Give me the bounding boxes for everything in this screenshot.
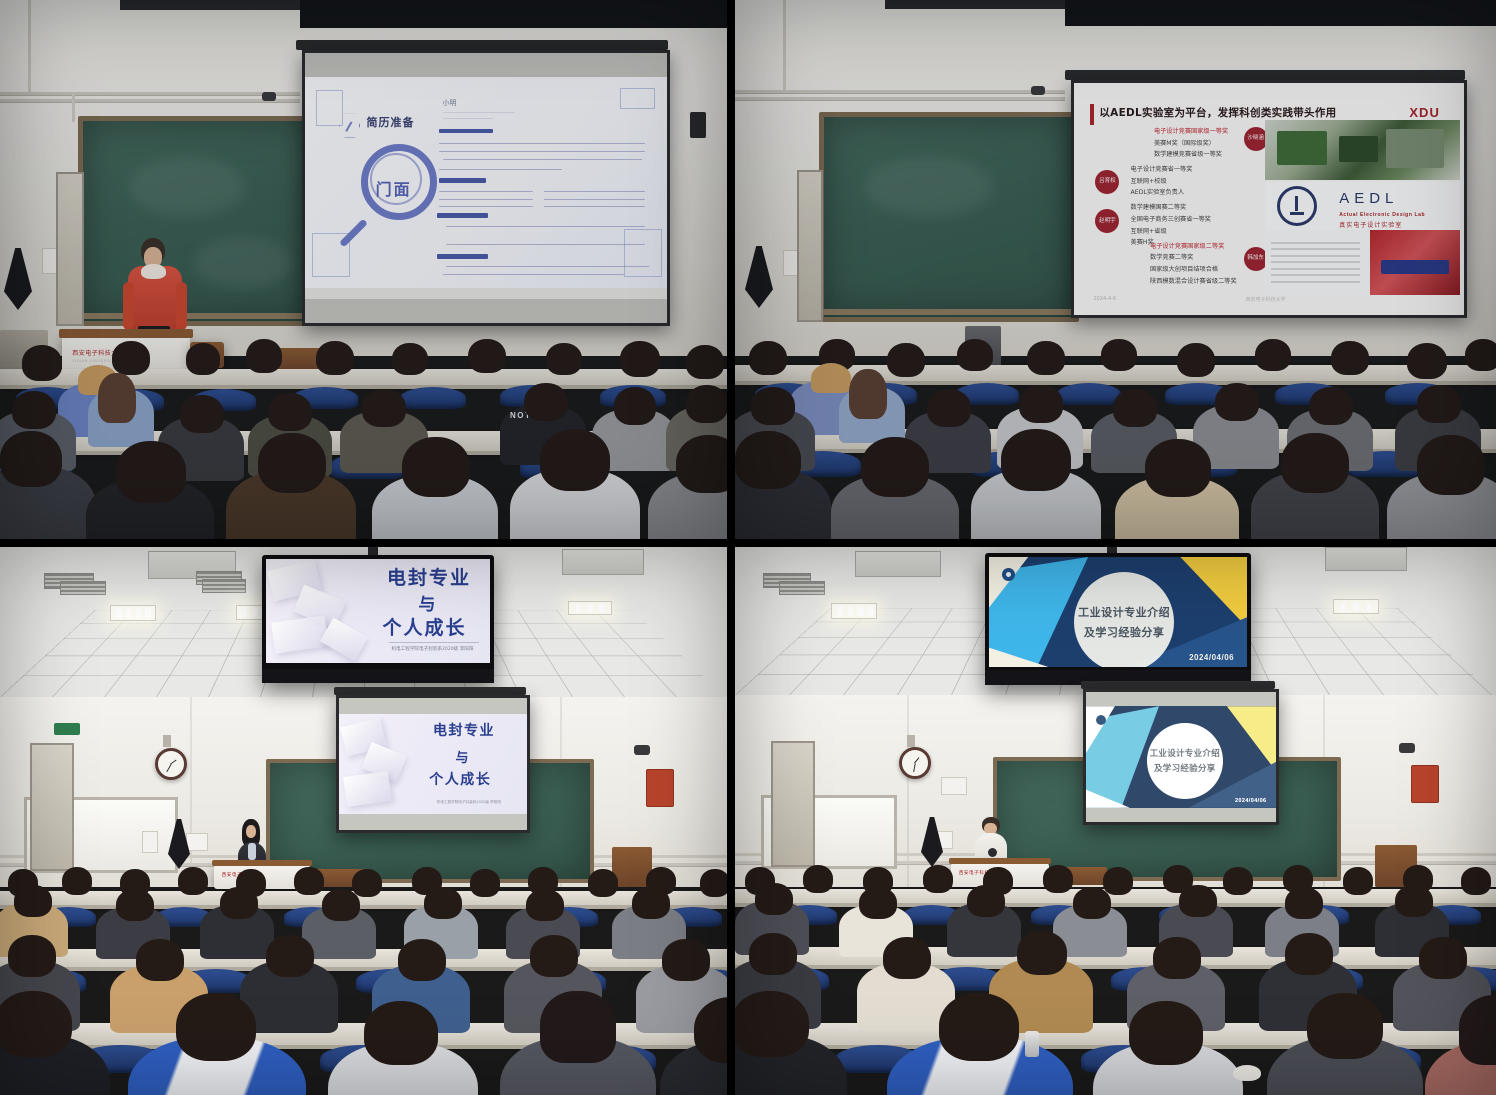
clock-minute-hand xyxy=(166,764,171,772)
resume-row xyxy=(439,206,533,207)
tv-title-line-3: 个人成长 xyxy=(382,613,466,640)
audience-head xyxy=(588,869,618,897)
ac-diffuser xyxy=(1325,547,1407,571)
audience-head xyxy=(632,887,670,919)
photo-collage: 简历准备 门面 小明 xyxy=(0,0,1496,1095)
aedl-chinese: 真实电子设计实验室 xyxy=(1339,220,1402,229)
podium-top-edge xyxy=(949,858,1051,864)
chalk-tray xyxy=(815,309,1073,315)
person-badge-4: 韩加东 xyxy=(1244,247,1268,271)
title-circle: 工业设计专业介绍 及学习经验分享 xyxy=(1074,572,1174,667)
ceiling-soffit xyxy=(1065,0,1496,26)
audience-head-front xyxy=(1281,433,1349,493)
fire-equipment-box xyxy=(1411,765,1439,803)
person-item: 陕西模数混合设计赛省级二等奖 xyxy=(1150,276,1237,285)
exit-sign xyxy=(54,723,80,735)
wall-conduit-2 xyxy=(0,99,300,102)
audience-head xyxy=(887,343,925,377)
audience-head-front xyxy=(116,441,186,503)
audience-head xyxy=(180,395,224,433)
ac-diffuser xyxy=(562,549,644,575)
chalk-tray xyxy=(74,313,316,319)
audience-head-cap xyxy=(811,363,851,393)
speaker-face xyxy=(246,825,256,838)
resume-name: 小明 xyxy=(443,98,457,108)
person-item: 互联网+省级 xyxy=(1131,226,1167,235)
person-item: AEDL实验室负责人 xyxy=(1131,187,1184,196)
resume-section-tag-3 xyxy=(437,213,488,218)
resume-row xyxy=(443,159,642,160)
resume-section-tag-2 xyxy=(439,178,486,183)
side-door xyxy=(56,172,84,326)
projection-screen: 工业设计专业介绍 及学习经验分享 2024/04/06 xyxy=(1083,689,1279,825)
tv-title-line-2: 及学习经验分享 xyxy=(1084,624,1165,640)
classroom-scene-d: 工业设计专业介绍 及学习经验分享 2024/04/06 xyxy=(735,547,1496,1095)
tv-bezel-chin xyxy=(262,669,494,683)
audience-head-front xyxy=(0,431,62,487)
aedl-english: Actual Electronic Design Lab xyxy=(1339,212,1425,218)
slide-footer-org: 西安电子科技大学 xyxy=(1246,296,1286,303)
audience-head xyxy=(1073,887,1111,919)
title-circle: 工业设计专业介绍 及学习经验分享 xyxy=(1147,723,1223,799)
person-item: 美赛M奖（国际级奖） xyxy=(1154,138,1215,147)
speaker-arm-right xyxy=(176,282,187,330)
desk-edge xyxy=(0,967,727,971)
desk-edge xyxy=(0,905,727,909)
resume-section-tag-1 xyxy=(439,129,493,134)
lecture-hall-scene-b: 以AEDL实验室为平台，发挥科创类实践带头作用 XDU 沙晓涵 电子设计竞赛国家… xyxy=(735,0,1496,539)
projected-title-line-1: 电封专业 xyxy=(433,720,495,740)
wall-seam xyxy=(190,697,192,887)
person-item: 电子设计竞赛国家级二等奖 xyxy=(1150,241,1224,250)
person-item: 互联网+校级 xyxy=(1131,176,1167,185)
slide-footer-date: 2024-4-6 xyxy=(1094,296,1117,302)
audience-head-long-hair xyxy=(849,369,887,419)
projection-screen: 电封专业 与 个人成长 机电工程学院电子封装系2020级 李阳阳 xyxy=(336,695,530,833)
audience-head xyxy=(322,889,360,921)
resume-row xyxy=(446,266,649,267)
blueprint-corner-br xyxy=(624,229,662,277)
audience-head-long-hair xyxy=(98,373,136,423)
audience: jacket text visible: NOT A NOT A xyxy=(0,359,727,539)
audience-head xyxy=(1407,343,1447,379)
projected-subtitle: 机电工程学院电子封装系2020级 李阳阳 xyxy=(437,800,501,805)
resume-row xyxy=(446,244,645,245)
audience-head-front xyxy=(258,433,326,493)
brand-logo: XDU xyxy=(1409,105,1439,120)
table-line xyxy=(1271,242,1360,244)
person-item: 电子设计竞赛省一等奖 xyxy=(1131,164,1193,173)
wall-notice xyxy=(941,777,967,795)
fire-equipment-box xyxy=(646,769,674,807)
projected-title-line-2: 及学习经验分享 xyxy=(1154,762,1216,774)
seat xyxy=(400,387,466,409)
wall-conduit-vertical xyxy=(783,0,786,90)
audience-head xyxy=(530,935,578,977)
screen-band-top xyxy=(339,698,527,714)
audience-head xyxy=(316,341,354,375)
wall-clock-face xyxy=(155,748,187,780)
person-item: 数学竞赛二等奖 xyxy=(1150,252,1193,261)
audience-head xyxy=(1223,867,1253,895)
table-line xyxy=(1271,248,1360,250)
audience-head xyxy=(266,935,314,977)
audience-head xyxy=(1101,339,1137,371)
audience-head xyxy=(662,939,710,981)
resume-meta-line xyxy=(443,112,515,113)
audience-head-front xyxy=(1001,429,1071,491)
screen-case xyxy=(296,40,668,50)
ceiling-camera xyxy=(1399,743,1415,753)
desk-edge xyxy=(735,965,1496,969)
audience-head xyxy=(398,939,446,981)
projected-slide-date: 2024/04/06 xyxy=(1235,798,1267,804)
slide-geometric-tv: 工业设计专业介绍 及学习经验分享 2024/04/06 xyxy=(989,557,1247,667)
audience-head xyxy=(1461,867,1491,895)
audience-head xyxy=(1179,885,1217,917)
side-door xyxy=(797,170,823,322)
audience-head-front xyxy=(735,991,809,1057)
table-line xyxy=(1271,255,1360,257)
audience-head xyxy=(8,935,56,977)
audience-head xyxy=(526,889,564,921)
table-line xyxy=(1271,274,1360,276)
audience-head xyxy=(1017,931,1067,975)
audience-head xyxy=(246,339,282,373)
screen-band-top xyxy=(1086,692,1276,706)
ceiling-light-panel xyxy=(110,605,156,621)
audience xyxy=(735,883,1496,1095)
audience-head xyxy=(923,865,953,893)
audience-head xyxy=(116,889,154,921)
tv-title-line-2: 与 xyxy=(418,590,435,615)
photo-pcb-hardware xyxy=(1265,120,1460,180)
audience-head-front xyxy=(1307,993,1383,1059)
audience-head xyxy=(1177,343,1215,377)
resume-meta-line-2 xyxy=(443,118,494,119)
resume-row xyxy=(439,199,533,200)
audience-head xyxy=(614,387,656,425)
audience-head-front-ponytail xyxy=(540,991,616,1063)
projection-screen: 简历准备 门面 小明 xyxy=(302,50,670,326)
panel-bottom-left: 电封专业 与 个人成长 机电工程学院电子封装系2020级 李阳阳 xyxy=(0,547,727,1095)
audience-head xyxy=(620,341,660,377)
audience-head xyxy=(1285,933,1333,975)
audience-head-front xyxy=(1417,435,1485,495)
ceiling-light-panel xyxy=(568,601,612,615)
audience-head xyxy=(967,885,1005,917)
audience-head xyxy=(803,865,833,893)
slide-paper-fold-projected: 电封专业 与 个人成长 机电工程学院电子封装系2020级 李阳阳 xyxy=(339,714,527,814)
panel-bottom-right: 工业设计专业介绍 及学习经验分享 2024/04/06 xyxy=(735,547,1496,1095)
tv-screen: 工业设计专业介绍 及学习经验分享 2024/04/06 xyxy=(989,557,1247,667)
audience-head xyxy=(14,885,52,917)
paper-fold-shape xyxy=(343,771,392,807)
resume-row xyxy=(443,274,624,275)
audience xyxy=(735,359,1496,539)
screen-roller-case xyxy=(334,687,526,695)
ceiling-light-panel xyxy=(831,603,877,619)
audience-head xyxy=(751,387,795,425)
audience-head-front xyxy=(861,437,929,497)
ceiling-vent xyxy=(779,581,825,595)
resume-row xyxy=(439,151,645,152)
person-item: 数学建模竞赛省级一等奖 xyxy=(1154,149,1222,158)
speaker-arm-left xyxy=(123,282,134,330)
person-badge-2: 吕育权 xyxy=(1095,170,1119,194)
audience-head xyxy=(1285,887,1323,919)
audience-head xyxy=(186,343,220,375)
audience-head xyxy=(749,341,787,375)
audience-head xyxy=(1331,341,1369,375)
person-item: 全国电子商务三创赛省一等奖 xyxy=(1131,214,1211,223)
chalk-smudge xyxy=(864,157,994,217)
chalk-smudge xyxy=(129,157,245,217)
wall-tv-display: 工业设计专业介绍 及学习经验分享 2024/04/06 xyxy=(985,553,1251,685)
wall-speaker xyxy=(690,112,706,138)
slide-resume-preparation: 简历准备 门面 小明 xyxy=(305,77,667,288)
audience-head xyxy=(755,883,793,915)
ceiling-camera xyxy=(1031,86,1045,95)
audience-head xyxy=(546,343,582,375)
ceiling-soffit xyxy=(300,0,727,28)
lecture-hall-scene-a: 简历准备 门面 小明 xyxy=(0,0,727,539)
resume-row xyxy=(439,169,562,170)
resume-row xyxy=(439,191,533,192)
projected-title-line-1: 工业设计专业介绍 xyxy=(1150,747,1220,759)
photo-team-group xyxy=(1370,230,1460,295)
ceiling-camera xyxy=(262,92,276,101)
screen-band-bottom xyxy=(305,299,667,323)
projected-title-line-2: 与 xyxy=(456,747,469,766)
title-accent-bar xyxy=(1090,104,1094,125)
clock-mount xyxy=(907,735,915,747)
person-item: 数学建模国赛二等奖 xyxy=(1131,202,1187,211)
resume-section-tag-4 xyxy=(437,254,488,259)
slide-geometric-projected: 工业设计专业介绍 及学习经验分享 2024/04/06 xyxy=(1086,706,1276,807)
audience-head xyxy=(1465,339,1496,371)
resume-row xyxy=(544,206,645,207)
wall-panel xyxy=(186,833,208,851)
audience-head xyxy=(62,867,92,895)
clock-minute-hand xyxy=(913,763,915,772)
audience-head xyxy=(524,383,568,421)
speaker-hood xyxy=(141,264,166,278)
seat xyxy=(1057,383,1121,405)
ceiling-soffit-left xyxy=(885,0,1065,9)
ceiling-soffit-left xyxy=(120,0,300,10)
resume-row xyxy=(446,226,645,227)
audience-head-front xyxy=(402,437,470,497)
projection-screen: 以AEDL实验室为平台，发挥科创类实践带头作用 XDU 沙晓涵 电子设计竞赛国家… xyxy=(1071,80,1467,318)
wall-conduit-2 xyxy=(735,97,1065,100)
screen-band-bottom xyxy=(1086,808,1276,822)
audience-head xyxy=(686,385,727,423)
chalkboard xyxy=(78,116,320,326)
audience-head xyxy=(1153,937,1201,979)
water-bottle xyxy=(1025,1031,1039,1057)
wall-conduit-drop xyxy=(72,92,75,122)
circle-mark-icon xyxy=(1096,715,1106,725)
person-badge-3: 赵明宇 xyxy=(1095,209,1119,233)
audience-head xyxy=(352,869,382,897)
blueprint-corner-tl xyxy=(316,90,343,126)
person-badge-1: 沙晓涵 xyxy=(1244,127,1268,151)
audience-head xyxy=(12,391,56,429)
chalk-smudge-2 xyxy=(194,237,291,289)
audience-head xyxy=(686,345,724,379)
table-line xyxy=(1271,281,1360,283)
audience-head xyxy=(178,867,208,895)
photo-score-table xyxy=(1265,230,1366,295)
wall-conduit-vertical xyxy=(28,0,31,92)
audience-head xyxy=(1255,339,1291,371)
panel-top-right: 以AEDL实验室为平台，发挥科创类实践带头作用 XDU 沙晓涵 电子设计竞赛国家… xyxy=(735,0,1496,539)
audience-head-front xyxy=(364,1001,438,1065)
audience-head xyxy=(1019,385,1063,423)
audience-head xyxy=(468,339,506,373)
audience-head xyxy=(470,869,500,897)
audience-head xyxy=(1343,867,1373,895)
person-item: 电子设计竞赛国家级一等奖 xyxy=(1154,126,1228,135)
tv-slide-date: 2024/04/06 xyxy=(1189,653,1234,662)
audience-head-front xyxy=(0,991,72,1057)
audience-head xyxy=(749,933,797,975)
audience-head xyxy=(1419,937,1467,979)
audience-head-front xyxy=(676,435,727,493)
person-item: 国家级大创项目结项合格 xyxy=(1150,264,1218,273)
speaker-shirt xyxy=(248,843,256,860)
audience-head xyxy=(700,869,727,897)
audience-head xyxy=(112,341,150,375)
slide-headline-graphic: 门面 xyxy=(376,176,412,200)
audience-head xyxy=(957,339,993,371)
wall-seam xyxy=(907,695,909,887)
photo-aedl-logo-block: AEDL Actual Electronic Design Lab 真实电子设计… xyxy=(1265,182,1460,231)
classroom-door xyxy=(771,741,815,867)
ac-diffuser xyxy=(855,551,941,577)
audience-head xyxy=(927,389,971,427)
tv-subtitle: 机电工程学院电子封装系2020级 李阳阳 xyxy=(391,646,473,652)
blueprint-corner-tr xyxy=(620,88,655,109)
wall-conduit xyxy=(0,92,300,95)
audience-head xyxy=(1103,867,1133,895)
audience-head xyxy=(22,345,62,381)
clock-mount xyxy=(163,735,171,747)
resume-row xyxy=(544,199,645,200)
table-line xyxy=(1271,268,1360,270)
projected-title-line-3: 个人成长 xyxy=(429,769,491,789)
ceiling-camera xyxy=(634,745,650,755)
wall-clock-face xyxy=(899,747,931,779)
audience-head xyxy=(859,887,897,919)
slide-title: 以AEDL实验室为平台，发挥科创类实践带头作用 xyxy=(1099,105,1336,120)
tv-title-line-1: 电封专业 xyxy=(387,563,471,590)
screen-case xyxy=(1065,70,1465,80)
audience-head xyxy=(883,937,931,979)
slide-aedl-achievements: 以AEDL实验室为平台，发挥科创类实践带头作用 XDU 沙晓涵 电子设计竞赛国家… xyxy=(1074,83,1464,315)
wall-tv-display: 电封专业 与 个人成长 机电工程学院电子封装系2020级 李阳阳 xyxy=(262,555,494,683)
audience-head xyxy=(136,939,184,981)
audience-head-front xyxy=(540,429,610,491)
audience-head xyxy=(294,867,324,895)
aedl-circle-logo xyxy=(1277,186,1317,226)
circle-mark-icon xyxy=(1002,568,1015,581)
audience-head xyxy=(362,389,406,427)
audience-head xyxy=(424,887,462,919)
audience-head-front xyxy=(1129,1001,1203,1065)
paper-fold-shape xyxy=(271,616,329,654)
wall-conduit xyxy=(735,90,1065,93)
screen-roller-case xyxy=(1081,681,1275,689)
audience-head xyxy=(220,887,258,919)
screen-band-top xyxy=(305,53,667,77)
tv-screen: 电封专业 与 个人成长 机电工程学院电子封装系2020级 李阳阳 xyxy=(266,559,490,663)
audience xyxy=(0,885,727,1095)
chalkboard xyxy=(819,112,1079,322)
podium-top-edge xyxy=(212,860,312,866)
resume-row xyxy=(439,143,645,144)
classroom-scene-c: 电封专业 与 个人成长 机电工程学院电子封装系2020级 李阳阳 xyxy=(0,547,727,1095)
audience-head xyxy=(1215,383,1259,421)
podium-top-edge xyxy=(59,329,192,338)
audience-head-front xyxy=(939,993,1019,1061)
slide-paper-fold-tv: 电封专业 与 个人成长 机电工程学院电子封装系2020级 李阳阳 xyxy=(266,559,490,663)
audience-head xyxy=(268,393,312,431)
ceiling-light-panel xyxy=(1333,599,1379,614)
classroom-door xyxy=(30,743,74,871)
audience-head xyxy=(1309,387,1353,425)
audience-head xyxy=(1113,389,1157,427)
audience-head xyxy=(1417,385,1461,423)
audience-head xyxy=(392,343,428,375)
ceiling-vent xyxy=(60,581,106,595)
audience-head xyxy=(1027,341,1065,375)
resume-row xyxy=(544,191,645,192)
aedl-acronym: AEDL xyxy=(1339,190,1398,207)
screen-band-bottom xyxy=(339,814,527,830)
desk-edge xyxy=(735,903,1496,907)
mouse-device xyxy=(1233,1065,1261,1081)
table-line xyxy=(1271,261,1360,263)
audience-head xyxy=(1395,885,1433,917)
audience-head-front xyxy=(176,993,256,1061)
slide-section-title: 简历准备 xyxy=(367,114,415,130)
audience-head xyxy=(1043,865,1073,893)
wall-switch-panel xyxy=(142,831,158,853)
audience-head-front xyxy=(735,431,801,489)
ceiling-vent xyxy=(202,579,246,593)
tv-title-line-1: 工业设计专业介绍 xyxy=(1078,604,1170,620)
panel-top-left: 简历准备 门面 小明 xyxy=(0,0,727,539)
audience-head-front xyxy=(1145,439,1211,497)
